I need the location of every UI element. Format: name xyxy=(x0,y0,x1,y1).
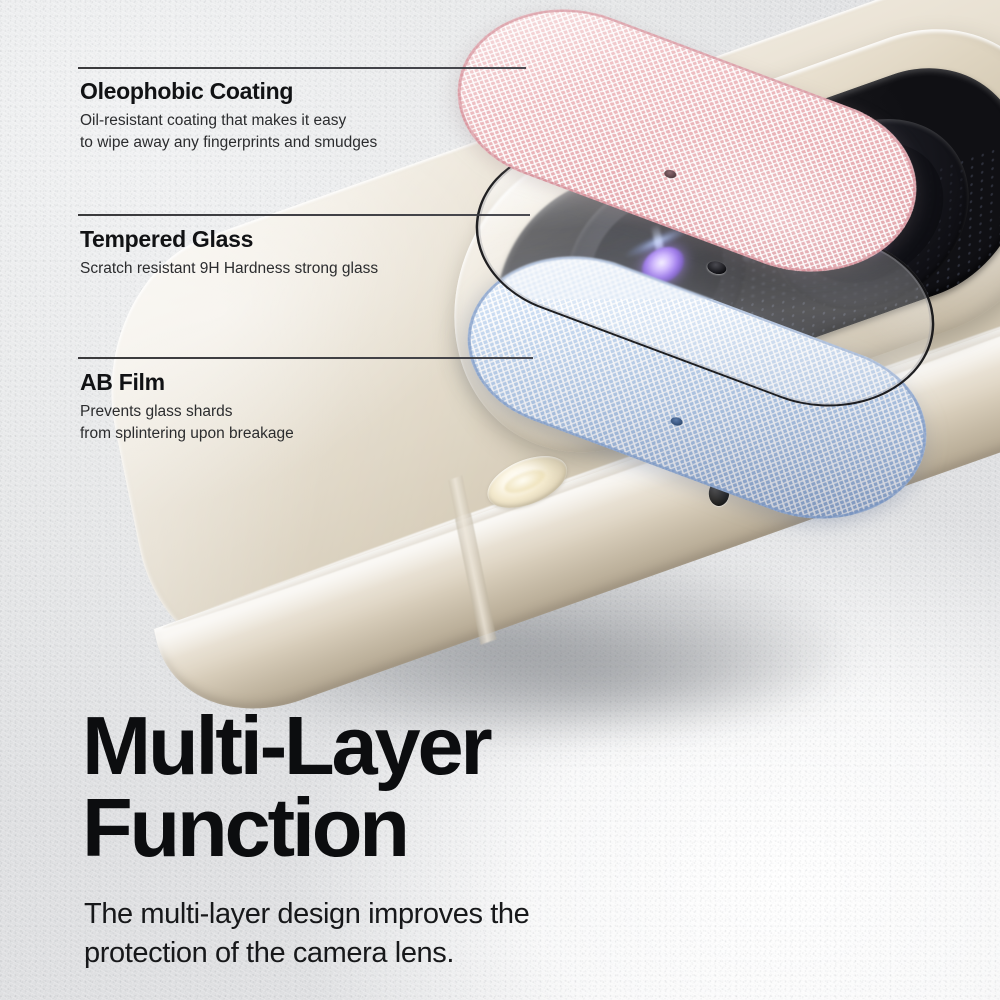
callout-oleophobic-coating: Oleophobic Coating Oil-resistant coating… xyxy=(80,78,377,154)
headline: Multi-Layer Function xyxy=(82,705,490,869)
callout-body-tempered-glass: Scratch resistant 9H Hardness strong gla… xyxy=(80,258,378,280)
headline-line-2: Function xyxy=(82,787,490,869)
subtitle-line-1: The multi-layer design improves the xyxy=(84,895,529,934)
led-flash xyxy=(483,446,571,518)
led-flash-core xyxy=(503,465,548,497)
leader-line-ab-film xyxy=(78,357,533,359)
callout-title-oleophobic-coating: Oleophobic Coating xyxy=(80,78,377,104)
callout-body-oleophobic-coating: Oil-resistant coating that makes it easy… xyxy=(80,110,377,154)
antenna-band-top-left xyxy=(448,475,471,522)
infographic-canvas: Oleophobic Coating Oil-resistant coating… xyxy=(0,0,1000,1000)
callout-body-ab-film: Prevents glass shards from splintering u… xyxy=(80,401,294,445)
leader-line-oleophobic-coating xyxy=(78,67,526,69)
callout-title-ab-film: AB Film xyxy=(80,369,294,395)
callout-title-tempered-glass: Tempered Glass xyxy=(80,226,378,252)
headline-line-1: Multi-Layer xyxy=(82,705,490,787)
antenna-band-left xyxy=(455,513,497,645)
callout-ab-film: AB Film Prevents glass shards from splin… xyxy=(80,369,294,445)
leader-line-tempered-glass xyxy=(78,214,530,216)
subtitle-line-2: protection of the camera lens. xyxy=(84,934,529,973)
subtitle: The multi-layer design improves the prot… xyxy=(84,895,529,974)
callout-tempered-glass: Tempered Glass Scratch resistant 9H Hard… xyxy=(80,226,378,280)
antenna-band-top-right xyxy=(997,270,1000,317)
